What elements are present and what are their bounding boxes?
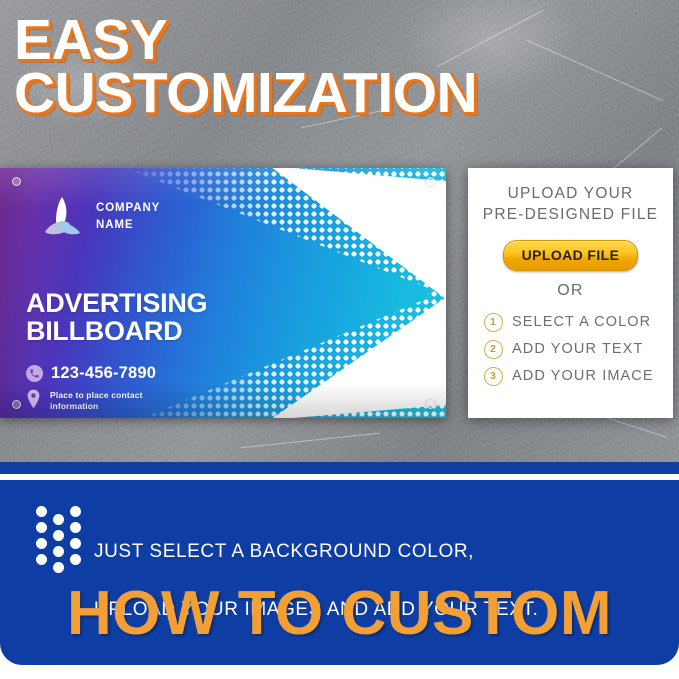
footer-big-title: HOW TO CUSTOM <box>0 583 679 645</box>
billboard-banner-mockup: COMPANY NAME ADVERTISING BILLBOARD 123-4… <box>0 168 446 418</box>
step-number-badge: 3 <box>484 367 503 386</box>
phone-icon <box>26 365 43 382</box>
banner-grommet <box>12 400 21 409</box>
company-name-line-1: COMPANY <box>96 200 160 217</box>
step-item-3[interactable]: 3 ADD YOUR IMACE <box>484 363 673 390</box>
step-label: SELECT A COLOR <box>512 314 651 330</box>
step-number-badge: 1 <box>484 313 503 332</box>
company-name-line-2: NAME <box>96 217 160 234</box>
step-label: ADD YOUR TEXT <box>512 341 643 357</box>
steps-list: 1 SELECT A COLOR 2 ADD YOUR TEXT 3 ADD Y… <box>468 309 673 390</box>
step-item-2[interactable]: 2 ADD YOUR TEXT <box>484 336 673 363</box>
map-pin-icon <box>26 389 41 409</box>
card-heading-line-1: UPLOAD YOUR <box>483 184 658 205</box>
banner-phone-block: 123-456-7890 <box>26 364 156 383</box>
company-logo-icon <box>36 194 88 246</box>
banner-company-name: COMPANY NAME <box>96 200 160 233</box>
card-heading: UPLOAD YOUR PRE-DESIGNED FILE <box>483 184 658 226</box>
step-item-1[interactable]: 1 SELECT A COLOR <box>484 309 673 336</box>
banner-title: ADVERTISING BILLBOARD <box>26 290 207 346</box>
banner-address-block: Place to place contact information <box>26 390 143 413</box>
decorative-dot-grid <box>36 506 84 572</box>
banner-grommet <box>426 400 435 409</box>
step-label: ADD YOUR IMACE <box>512 368 654 384</box>
banner-address-text: Place to place contact information <box>50 390 143 413</box>
card-heading-line-2: PRE-DESIGNED FILE <box>483 205 658 226</box>
upload-file-button[interactable]: UPLOAD FILE <box>503 240 639 271</box>
promo-graphic: EASY CUSTOMIZATION COMPANY NAME ADVERTIS… <box>0 0 679 679</box>
address-line-2: information <box>50 401 98 411</box>
banner-title-line-2: BILLBOARD <box>26 318 207 346</box>
banner-grommet <box>426 177 435 186</box>
banner-title-line-1: ADVERTISING <box>26 290 207 318</box>
step-number-badge: 2 <box>484 340 503 359</box>
upload-options-card: UPLOAD YOUR PRE-DESIGNED FILE UPLOAD FIL… <box>468 168 673 418</box>
banner-phone-number: 123-456-7890 <box>51 364 156 383</box>
banner-grommet <box>12 177 21 186</box>
or-divider-label: OR <box>557 282 584 300</box>
tagline-line-1: JUST SELECT A BACKGROUND COLOR, <box>94 541 474 562</box>
blue-accent-strip <box>0 462 679 474</box>
address-line-1: Place to place contact <box>50 390 143 400</box>
